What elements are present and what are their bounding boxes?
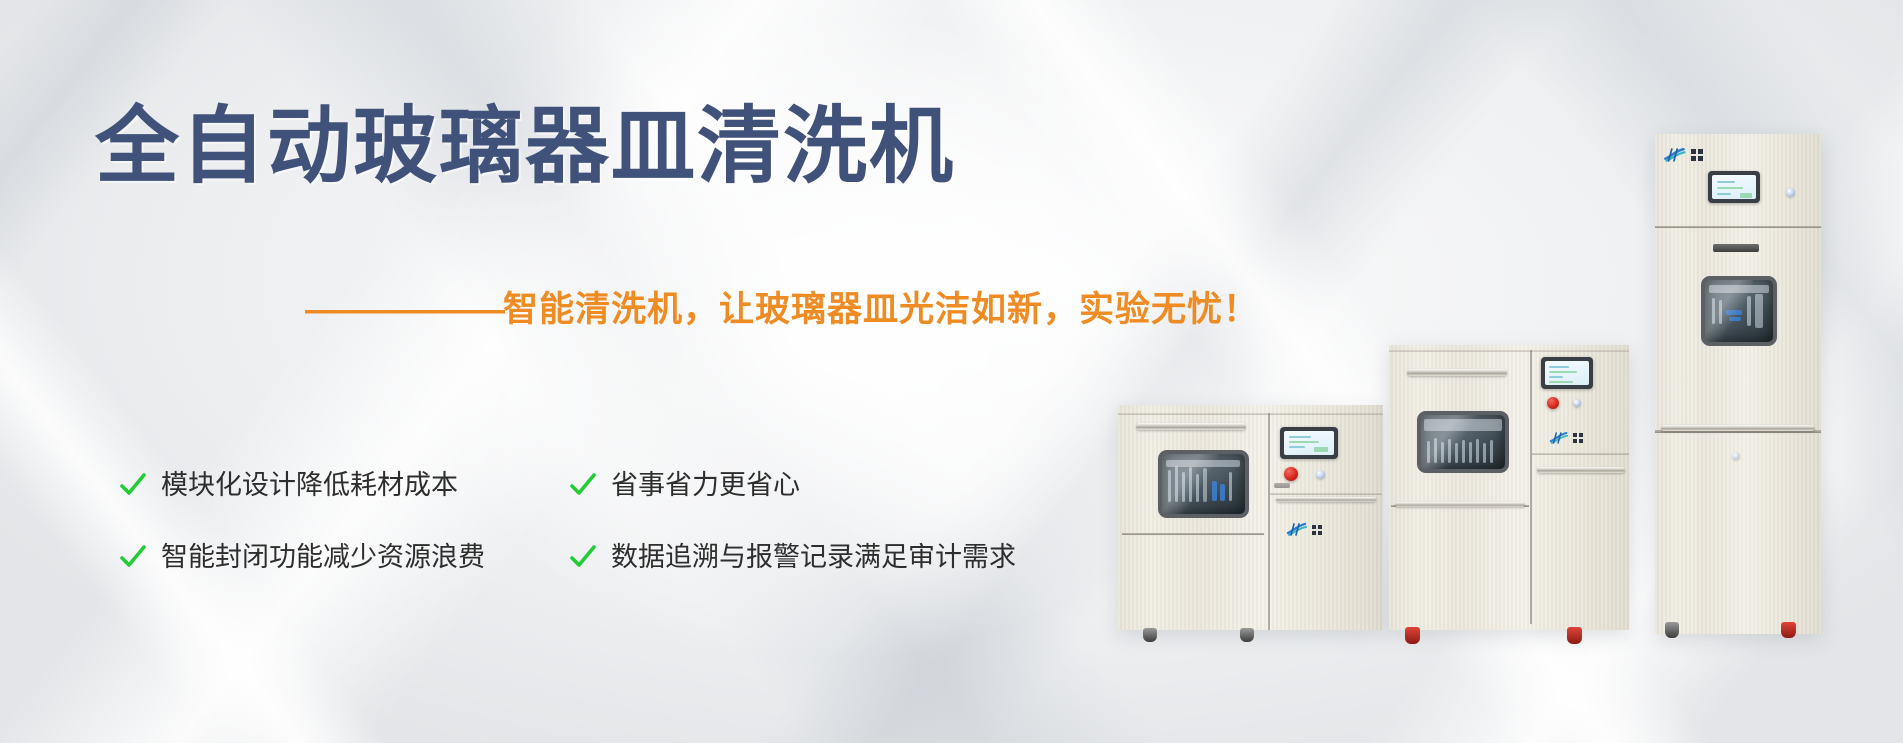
screen-content [1284, 431, 1334, 455]
lower-door-handle[interactable] [1395, 502, 1525, 507]
check-icon [568, 542, 598, 572]
viewing-window [1701, 276, 1777, 346]
brand-logo [1549, 431, 1583, 445]
machine-texture [1655, 134, 1821, 634]
feature-label: 省事省力更省心 [611, 472, 800, 499]
power-button[interactable] [1786, 188, 1795, 197]
product-banner: 全自动玻璃器皿清洗机 ——————智能清洗机，让玻璃器皿光洁如新，实验无忧！ 模… [0, 0, 1903, 743]
check-icon [118, 542, 148, 572]
check-icon [118, 470, 148, 500]
door-handle[interactable] [1661, 425, 1815, 431]
caster-wheel [1781, 622, 1796, 638]
feature-list: 模块化设计降低耗材成本 省事省力更省心 智能封闭功能减少资源浪费 数据追溯 [118, 470, 998, 572]
touchscreen-display[interactable] [1280, 427, 1338, 459]
machine-texture [1118, 405, 1383, 630]
feature-row: 模块化设计降低耗材成本 省事省力更省心 [118, 470, 998, 500]
vent-grille [1274, 483, 1290, 488]
feature-item: 智能封闭功能减少资源浪费 [118, 542, 568, 572]
brand-logo [1663, 147, 1703, 163]
touchscreen-display[interactable] [1541, 357, 1593, 389]
screen-content [1712, 175, 1756, 199]
page-title: 全自动玻璃器皿清洗机 [95, 104, 955, 188]
emergency-stop-button[interactable] [1547, 397, 1559, 409]
caster-wheel [1665, 622, 1679, 638]
brand-mark-icon [1663, 147, 1687, 163]
feature-item: 模块化设计降低耗材成本 [118, 470, 568, 500]
feature-item: 省事省力更省心 [568, 470, 998, 500]
product-benchtop-glassware-washer [1118, 405, 1383, 630]
panel-divider [1268, 413, 1270, 630]
brand-logo [1286, 522, 1322, 537]
subtitle-text: 智能清洗机，让玻璃器皿光洁如新，实验无忧！ [503, 290, 1259, 329]
panel-seam [1389, 350, 1629, 352]
panel-seam [1270, 493, 1382, 495]
feature-label: 模块化设计降低耗材成本 [161, 472, 458, 499]
logo-dots-icon [1573, 433, 1583, 443]
power-button[interactable] [1573, 399, 1581, 407]
product-tall-column-glassware-washer [1655, 134, 1821, 634]
feature-label: 智能封闭功能减少资源浪费 [161, 544, 485, 571]
product-freestanding-glassware-washer [1389, 345, 1629, 630]
vent-grille [1713, 244, 1759, 252]
logo-dots-icon [1312, 525, 1322, 535]
viewing-window [1158, 450, 1249, 518]
caster-wheel [1567, 627, 1582, 644]
feature-item: 数据追溯与报警记录满足审计需求 [568, 542, 998, 572]
hatch-handle[interactable] [1276, 497, 1376, 502]
caster-wheel [1405, 627, 1420, 644]
panel-seam [1532, 453, 1629, 455]
panel-seam [1118, 413, 1383, 415]
screen-content [1545, 361, 1589, 385]
door-handle[interactable] [1407, 369, 1507, 376]
caster-wheel [1143, 628, 1157, 642]
brand-mark-icon [1286, 522, 1308, 537]
caster-wheel [1240, 628, 1254, 642]
subtitle-dash: —————— [305, 290, 503, 329]
hatch-handle[interactable] [1537, 467, 1625, 473]
viewing-window [1417, 411, 1509, 473]
panel-seam [1655, 226, 1821, 228]
touchscreen-display[interactable] [1708, 171, 1760, 203]
logo-dots-icon [1691, 149, 1703, 161]
machine-texture [1389, 345, 1629, 630]
feature-label: 数据追溯与报警记录满足审计需求 [611, 544, 1016, 571]
latch-button[interactable] [1732, 452, 1740, 460]
feature-row: 智能封闭功能减少资源浪费 数据追溯与报警记录满足审计需求 [118, 542, 998, 572]
power-button[interactable] [1316, 470, 1325, 479]
check-icon [568, 470, 598, 500]
drawer-seam [1122, 533, 1264, 535]
door-handle[interactable] [1136, 423, 1246, 430]
brand-mark-icon [1549, 431, 1569, 445]
panel-divider [1530, 350, 1532, 624]
emergency-stop-button[interactable] [1284, 467, 1298, 481]
banner-subtitle: ——————智能清洗机，让玻璃器皿光洁如新，实验无忧！ [305, 292, 1259, 327]
